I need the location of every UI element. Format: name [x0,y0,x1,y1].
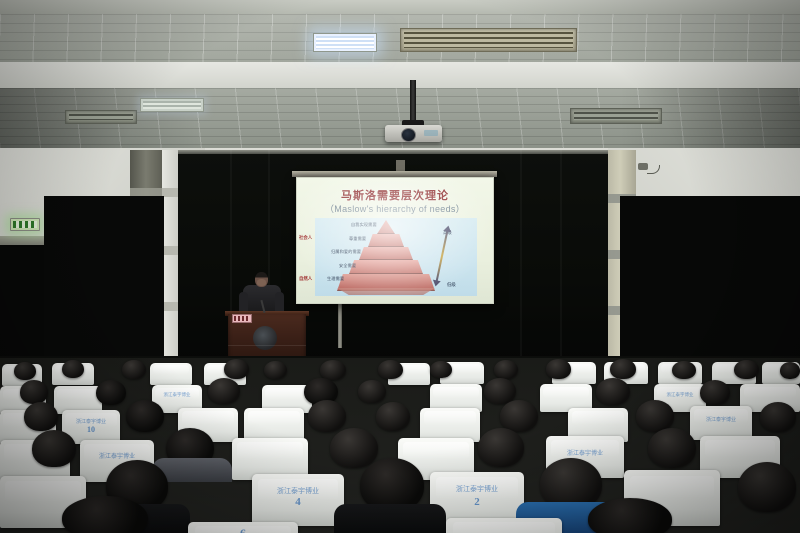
ceiling-light-icon [313,33,377,52]
podium-panel-line [228,345,306,346]
slide-title-en: （Maslow's hierarchy of needs） [297,202,493,215]
surveillance-camera-icon [638,163,648,170]
audience-area: 浙江泰宇博业 浙江泰宇博业 浙江泰宇博业 10 浙江泰宇博业 [0,358,800,533]
audience-head [308,400,346,432]
seat-number: 10 [62,425,120,434]
speaker-face [257,279,266,286]
pyramid-side-label-social: 社会人 [299,235,312,241]
audience-head [358,380,386,403]
audience-head [494,360,518,379]
doorway-left [0,245,46,363]
audience-head [122,360,146,379]
audience-head [672,361,696,379]
ceiling-light-icon [140,98,204,112]
audience-head [734,360,759,379]
audience-head [738,462,796,512]
seat-cover [446,518,562,533]
exit-sign-icon-left [10,218,40,231]
pyramid-tier-5 [377,220,395,234]
pyramid-tier-4 [368,234,404,247]
audience-head [14,362,36,380]
seat-cover [420,408,480,442]
audience-head [780,362,800,379]
slide-title-cn: 马斯洛需要层次理论 [297,187,493,203]
audience-head [700,380,730,405]
projector-mount-pole [410,80,416,122]
pyramid-label-2: 安全需要 [339,263,356,269]
level-range-arrow-icon [436,230,449,281]
pillar-left-face [162,150,178,362]
air-vent-icon [65,110,137,124]
audience-head [20,380,48,404]
curtain-right [620,196,800,363]
audience-head [546,359,571,379]
audience-head [330,428,378,468]
pyramid-label-5: 自我实现需要 [351,222,377,228]
pyramid-label-1: 生理需要 [327,276,344,282]
audience-head [588,498,672,533]
pyramid-tier-2 [349,260,423,274]
ceiling-edge-band [0,0,800,14]
pyramid-base-shadow [337,288,435,295]
pyramid-label-4: 尊重需要 [349,236,366,242]
auditorium-photo: 马斯洛需要层次理论 （Maslow's hierarchy of needs） … [0,0,800,533]
seat-number: 4 [252,496,344,508]
audience-head [62,496,148,533]
pyramid-side-label-natural: 自然人 [299,276,312,282]
audience-head [596,378,630,405]
ceiling-soffit [0,62,800,88]
air-vent-icon [570,108,662,124]
audience-head [478,428,524,467]
curtain-left [44,196,164,363]
audience-head [32,430,76,467]
audience-shoulders [334,504,446,533]
audience-head [264,361,287,379]
seat-number: 2 [430,496,524,508]
screen-support-leg [338,302,342,348]
audience-head [430,361,452,378]
audience-head [224,359,249,379]
pyramid-tier-3 [359,247,413,260]
seat-number: 6 [188,526,298,533]
audience-head [208,378,240,404]
audience-head [648,428,696,468]
projection-screen: 马斯洛需要层次理论 （Maslow's hierarchy of needs） … [296,177,494,304]
pyramid-right-label-low: 低级 [447,282,456,288]
audience-head [320,360,346,380]
pyramid-label-3: 归属和爱的需要 [331,249,361,255]
projector-icon [385,125,442,142]
air-vent-icon [400,28,577,52]
audience-head [376,402,410,431]
audience-head [760,402,796,432]
seat-cover [244,408,304,442]
slide-pyramid-panel: 自我实现需要 尊重需要 归属和爱的需要 安全需要 生理需要 社会人 自然人 高级… [315,218,477,296]
seat-cover [150,363,192,385]
audience-head [24,402,58,431]
podium-sign [232,314,252,323]
audience-head [62,360,84,378]
audience-head [378,360,403,379]
seat-cover [690,406,752,440]
audience-head [500,400,538,432]
audience-head [126,400,164,432]
curtain-rod [178,150,608,154]
audience-head [96,380,126,405]
audience-head [610,359,636,379]
podium-emblem-icon [253,326,277,350]
